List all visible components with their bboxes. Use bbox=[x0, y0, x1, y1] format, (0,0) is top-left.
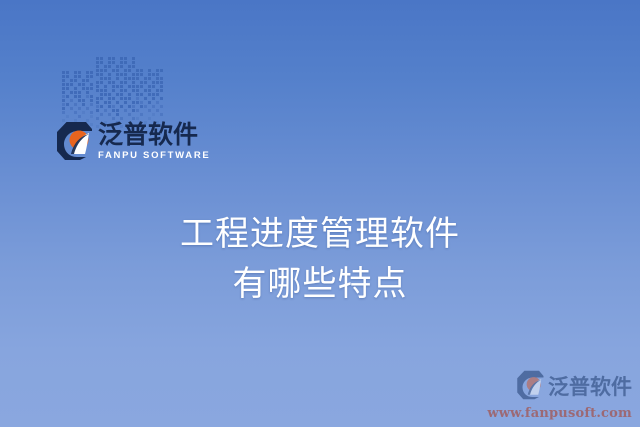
watermark-url: www.fanpusoft.com bbox=[486, 406, 632, 421]
brand-name-cn: 泛普软件 bbox=[98, 122, 210, 147]
promo-banner: 泛普软件 FANPU SOFTWARE 工程进度管理软件 有哪些特点 泛普软件 … bbox=[0, 0, 640, 427]
fanpu-logo-mark-icon bbox=[56, 121, 92, 166]
brand-name-en: FANPU SOFTWARE bbox=[98, 150, 210, 161]
watermark-brand-name: 泛普软件 bbox=[548, 377, 632, 398]
watermark: 泛普软件 www.fanpusoft.com bbox=[486, 370, 632, 421]
watermark-logo-row: 泛普软件 bbox=[486, 370, 632, 405]
headline-line-2: 有哪些特点 bbox=[0, 259, 640, 309]
pixel-skyline bbox=[62, 33, 188, 133]
fanpu-logo-mark-watermark-icon bbox=[516, 370, 544, 405]
headline: 工程进度管理软件 有哪些特点 bbox=[0, 209, 640, 309]
brand-logo: 泛普软件 FANPU SOFTWARE bbox=[56, 121, 210, 166]
headline-line-1: 工程进度管理软件 bbox=[0, 209, 640, 259]
